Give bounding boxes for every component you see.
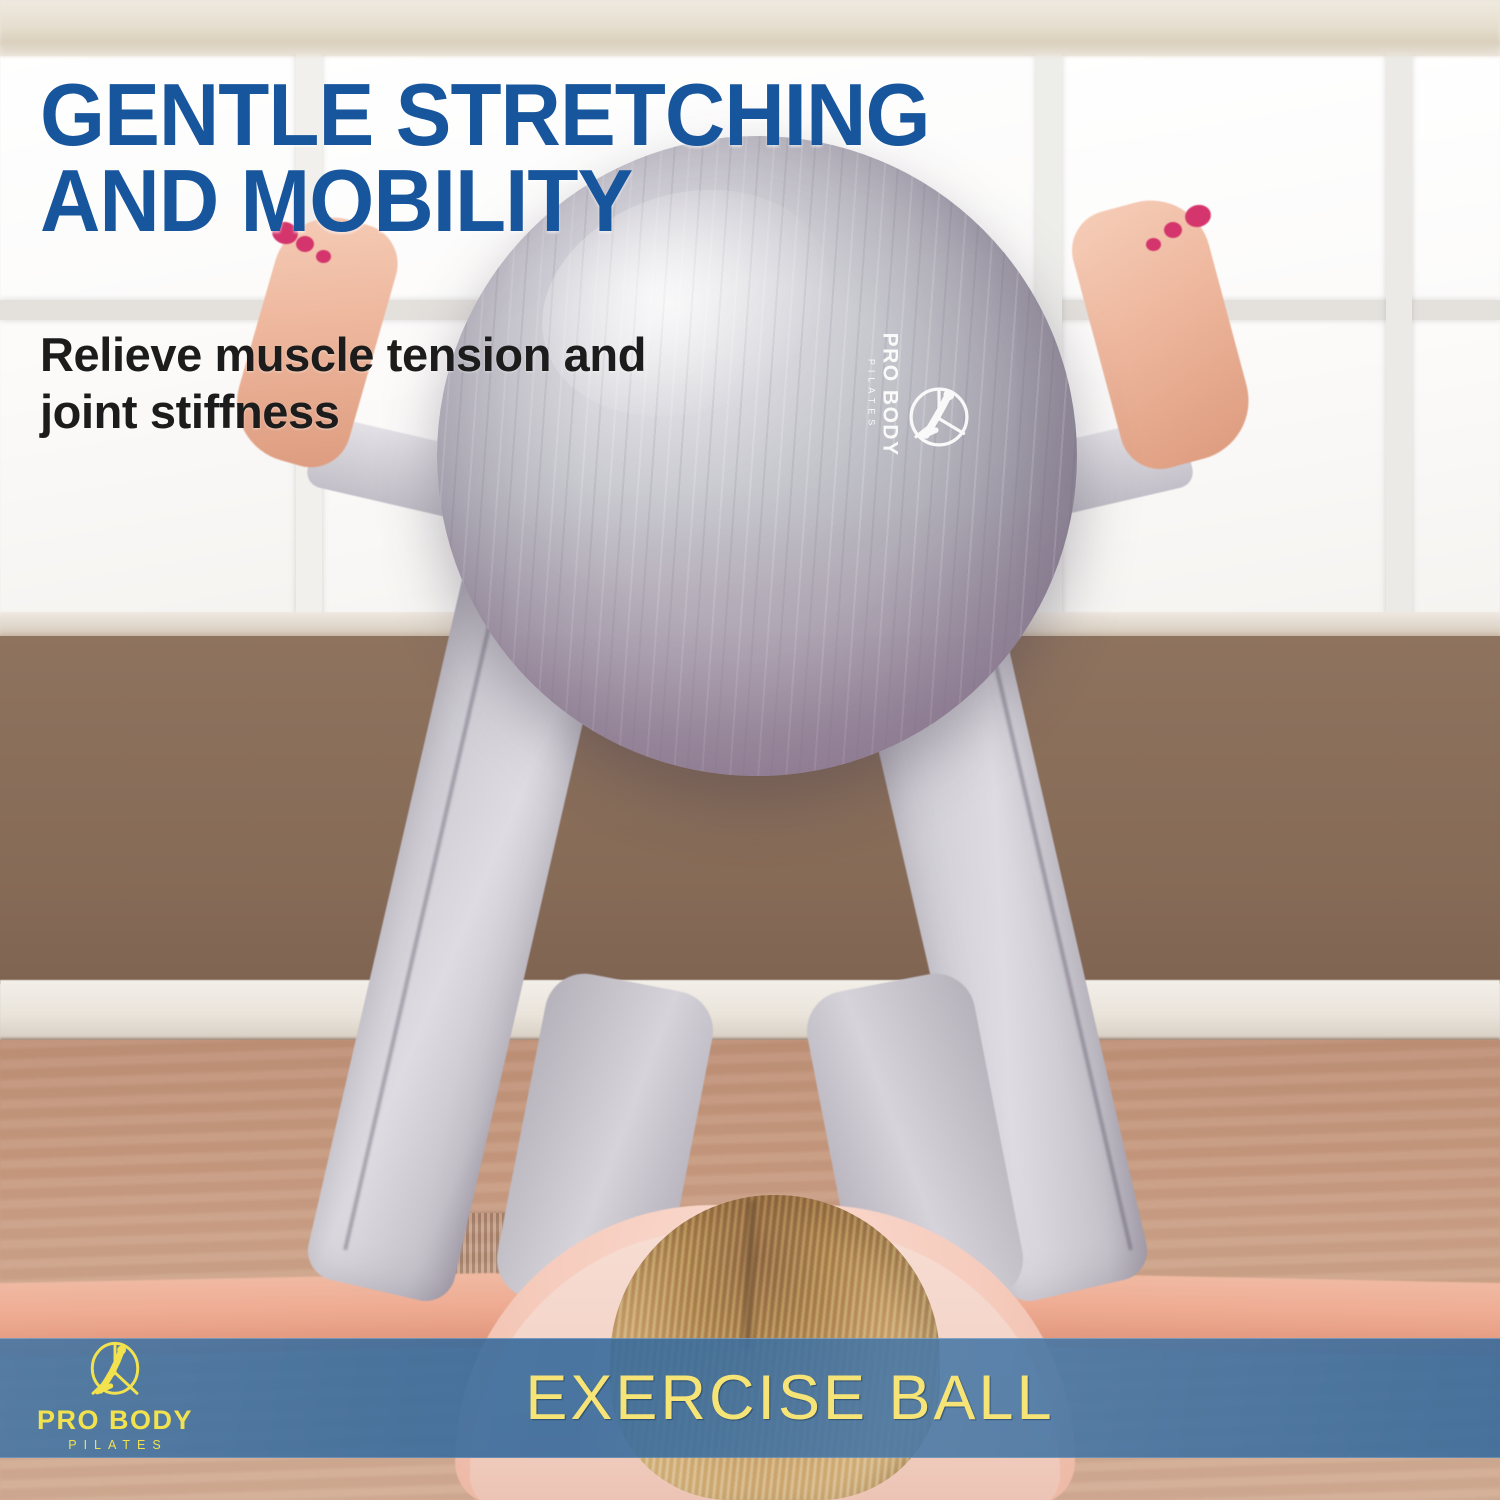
brand-logo: PRO BODY PILATES bbox=[0, 1338, 230, 1458]
product-name: Exercise Ball bbox=[230, 1362, 1500, 1434]
brand-tagline: PILATES bbox=[62, 1434, 167, 1458]
toenail bbox=[1164, 222, 1182, 238]
product-marketing-image: PRO BODY PILATES Gentle Stretching and M… bbox=[0, 0, 1500, 1500]
pilates-figure-circle-icon bbox=[898, 376, 980, 458]
headline: Gentle Stretching and Mobility bbox=[40, 72, 1104, 244]
ball-brand-text: PRO BODY PILATES bbox=[863, 333, 900, 457]
ball-brand-tagline: PILATES bbox=[863, 333, 879, 457]
bottom-banner: PRO BODY PILATES Exercise Ball bbox=[0, 1338, 1500, 1458]
ball-brand-imprint: PRO BODY PILATES bbox=[838, 336, 988, 496]
pilates-figure-circle-icon bbox=[78, 1339, 152, 1405]
subheadline: Relieve muscle tension and joint stiffne… bbox=[40, 326, 800, 441]
toenail bbox=[316, 250, 331, 263]
brand-name: PRO BODY bbox=[37, 1407, 193, 1434]
toenail bbox=[1146, 238, 1161, 251]
